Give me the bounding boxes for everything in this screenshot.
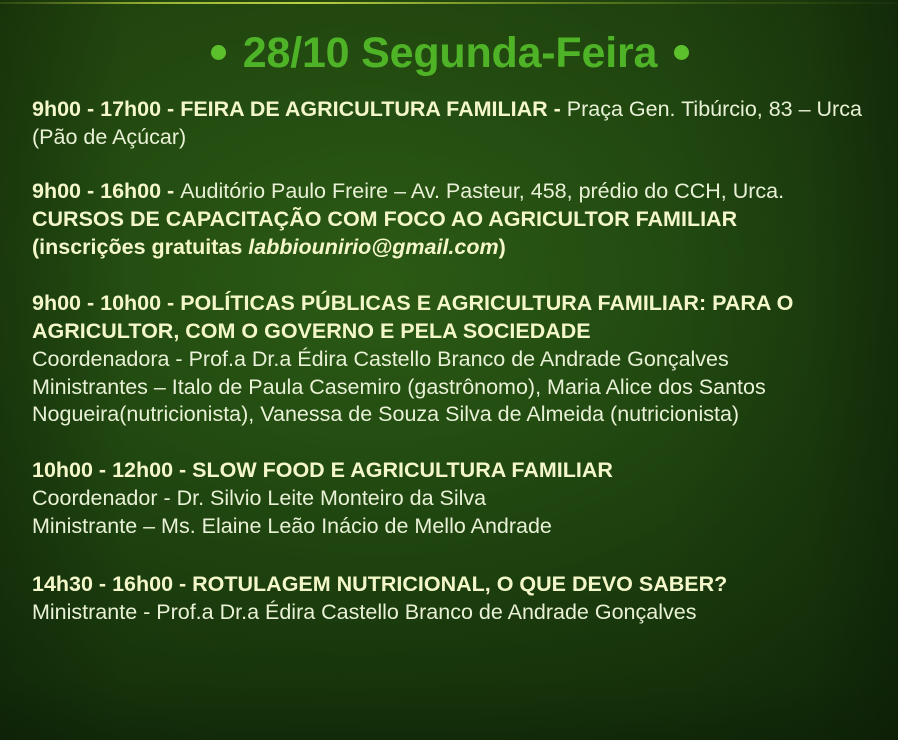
entry-time: 9h00 - 10h00: [32, 291, 161, 315]
page-title: 28/10 Segunda-Feira: [32, 0, 868, 96]
entry-registration-email[interactable]: labbiounirio@gmail.com: [248, 235, 498, 259]
entry-time: 10h00 - 12h00: [32, 458, 173, 482]
entry-detail-line: Ministrante - Prof.a Dr.a Édira Castello…: [32, 600, 696, 624]
entry-time: 14h30 - 16h00: [32, 572, 173, 596]
entry-registration-prefix: (inscrições gratuitas: [32, 235, 248, 259]
entry-venue: Auditório Paulo Freire – Av. Pasteur, 45…: [180, 179, 784, 203]
entry-title: ROTULAGEM NUTRICIONAL, O QUE DEVO SABER?: [192, 572, 727, 596]
schedule-entry: 14h30 - 16h00 - ROTULAGEM NUTRICIONAL, O…: [32, 571, 868, 627]
entry-time: 9h00 - 17h00: [32, 97, 161, 121]
entry-separator: -: [161, 179, 180, 203]
entry-separator: -: [173, 458, 192, 482]
poster-content: 28/10 Segunda-Feira 9h00 - 17h00 - FEIRA…: [0, 0, 898, 627]
entry-title: CURSOS DE CAPACITAÇÃO COM FOCO AO AGRICU…: [32, 207, 737, 231]
entry-title-separator: -: [548, 97, 567, 121]
entry-time: 9h00 - 16h00: [32, 179, 161, 203]
entry-detail-line: Coordenadora - Prof.a Dr.a Édira Castell…: [32, 347, 729, 371]
title-bullet-left-icon: [211, 45, 226, 60]
entry-separator: -: [161, 97, 180, 121]
entry-detail-line: Ministrantes – Italo de Paula Casemiro (…: [32, 375, 766, 427]
schedule-entry: 9h00 - 10h00 - POLÍTICAS PÚBLICAS E AGRI…: [32, 290, 868, 430]
schedule-entry: 10h00 - 12h00 - SLOW FOOD E AGRICULTURA …: [32, 457, 868, 541]
schedule-entry: 9h00 - 17h00 - FEIRA DE AGRICULTURA FAMI…: [32, 96, 868, 152]
entry-registration-suffix: ): [499, 235, 506, 259]
entry-title: FEIRA DE AGRICULTURA FAMILIAR: [180, 97, 547, 121]
entry-separator: -: [173, 572, 192, 596]
entry-separator: -: [161, 291, 180, 315]
page-title-text: 28/10 Segunda-Feira: [243, 29, 657, 77]
entry-detail-line: Ministrante – Ms. Elaine Leão Inácio de …: [32, 514, 552, 538]
event-schedule-poster: 28/10 Segunda-Feira 9h00 - 17h00 - FEIRA…: [0, 0, 898, 740]
entry-title: SLOW FOOD E AGRICULTURA FAMILIAR: [192, 458, 613, 482]
entry-detail-line: Coordenador - Dr. Silvio Leite Monteiro …: [32, 486, 486, 510]
schedule-entry: 9h00 - 16h00 - Auditório Paulo Freire – …: [32, 178, 868, 262]
title-bullet-right-icon: [674, 45, 689, 60]
